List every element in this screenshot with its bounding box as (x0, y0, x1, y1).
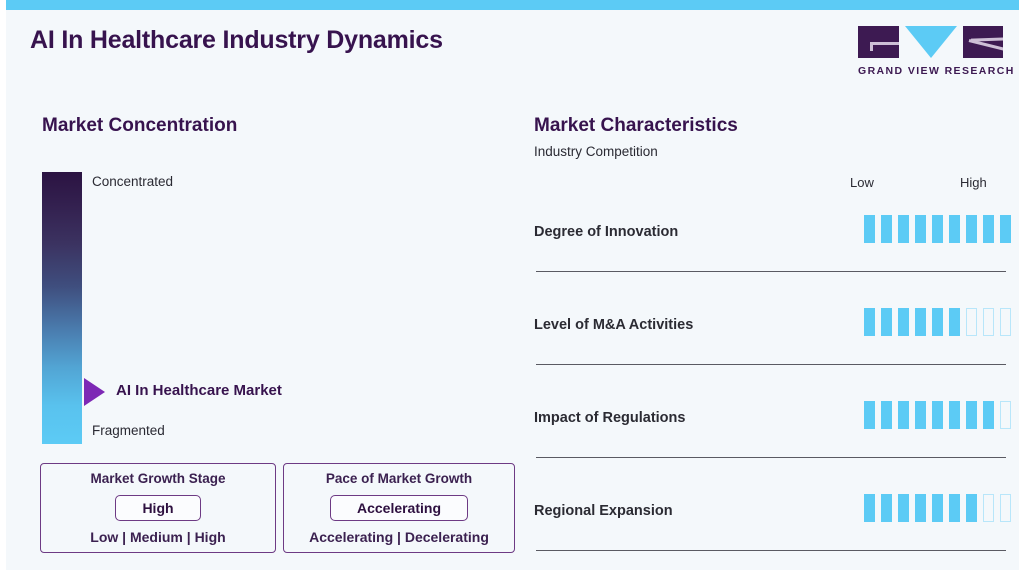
market-growth-stage-value: High (115, 495, 200, 521)
market-characteristics-panel: Market Characteristics Industry Competit… (516, 0, 1025, 576)
rating-segment-filled (915, 215, 926, 243)
rating-segment-filled (966, 401, 977, 429)
row-separator (536, 364, 1006, 365)
rating-segment-filled (881, 494, 892, 522)
rating-segment-filled (1000, 215, 1011, 243)
rating-segment-filled (949, 401, 960, 429)
characteristic-row: Level of M&A Activities (534, 291, 1014, 384)
rating-segment-filled (898, 215, 909, 243)
pace-of-market-growth-value: Accelerating (330, 495, 468, 521)
row-separator (536, 457, 1006, 458)
rating-segment-filled (932, 215, 943, 243)
rating-segment-filled (932, 401, 943, 429)
rating-segment-filled (932, 308, 943, 336)
pace-of-market-growth-scale: Accelerating | Decelerating (309, 529, 489, 545)
characteristic-row: Degree of Innovation (534, 198, 1014, 291)
rating-segment-filled (915, 308, 926, 336)
rating-segment-filled (898, 401, 909, 429)
rating-segment-empty (983, 494, 994, 522)
rating-segment-filled (949, 308, 960, 336)
rating-segment-filled (898, 308, 909, 336)
rating-segment-filled (966, 494, 977, 522)
characteristic-row: Impact of Regulations (534, 384, 1014, 477)
market-characteristics-title: Market Characteristics (534, 115, 738, 137)
market-concentration-title: Market Concentration (42, 115, 237, 137)
rating-segment-filled (915, 401, 926, 429)
rating-segment-filled (949, 215, 960, 243)
rating-segment-empty (1000, 308, 1011, 336)
concentration-gradient-bar (42, 172, 82, 444)
rating-segment-filled (881, 215, 892, 243)
rating-segment-filled (966, 215, 977, 243)
characteristic-rating-bars (864, 308, 1011, 336)
rating-segment-empty (983, 308, 994, 336)
rating-segment-filled (983, 215, 994, 243)
rating-segment-empty (966, 308, 977, 336)
scale-axis-low-label: Low (850, 175, 874, 190)
characteristic-rating-bars (864, 401, 1011, 429)
rating-segment-filled (881, 401, 892, 429)
rating-segment-empty (1000, 401, 1011, 429)
rating-segment-filled (898, 494, 909, 522)
market-position-label: AI In Healthcare Market (116, 382, 282, 399)
rating-segment-empty (1000, 494, 1011, 522)
market-growth-stage-scale: Low | Medium | High (90, 529, 225, 545)
gradient-bottom-label: Fragmented (92, 423, 165, 438)
market-growth-stage-card: Market Growth Stage High Low | Medium | … (40, 463, 276, 553)
rating-segment-filled (864, 401, 875, 429)
market-characteristics-subtitle: Industry Competition (534, 144, 658, 159)
characteristic-rating-bars (864, 494, 1011, 522)
rating-segment-filled (932, 494, 943, 522)
market-position-arrow-icon (84, 378, 105, 406)
characteristic-rating-bars (864, 215, 1011, 243)
row-separator (536, 550, 1006, 551)
row-separator (536, 271, 1006, 272)
characteristic-label: Level of M&A Activities (534, 317, 693, 333)
infographic-canvas: AI In Healthcare Industry Dynamics GRAND… (0, 0, 1025, 576)
pace-of-market-growth-heading: Pace of Market Growth (326, 471, 472, 486)
gradient-top-label: Concentrated (92, 174, 173, 189)
market-growth-stage-heading: Market Growth Stage (90, 471, 225, 486)
rating-segment-filled (864, 494, 875, 522)
characteristic-row: Regional Expansion (534, 477, 1014, 570)
rating-segment-filled (983, 401, 994, 429)
market-concentration-panel: Market Concentration Concentrated Fragme… (6, 0, 516, 576)
rating-segment-filled (915, 494, 926, 522)
pace-of-market-growth-card: Pace of Market Growth Accelerating Accel… (283, 463, 515, 553)
rating-segment-filled (864, 308, 875, 336)
rating-segment-filled (881, 308, 892, 336)
characteristic-label: Impact of Regulations (534, 410, 685, 426)
scale-axis-high-label: High (960, 175, 987, 190)
rating-segment-filled (949, 494, 960, 522)
characteristic-label: Degree of Innovation (534, 224, 678, 240)
characteristic-label: Regional Expansion (534, 503, 673, 519)
rating-segment-filled (864, 215, 875, 243)
